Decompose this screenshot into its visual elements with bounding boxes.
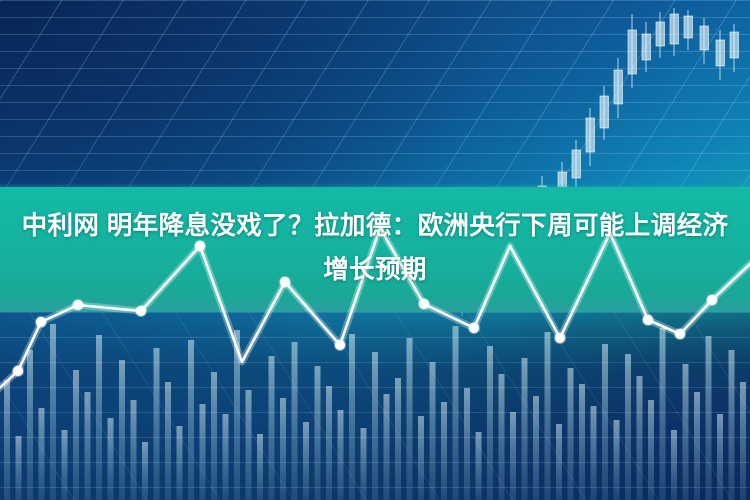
news-banner: 中利网 明年降息没戏了？拉加德：欧洲央行下周可能上调经济 增长预期 (0, 0, 750, 500)
page-title: 中利网 明年降息没戏了？拉加德：欧洲央行下周可能上调经济 增长预期 (0, 204, 750, 292)
headline-line-1: 中利网 明年降息没戏了？拉加德：欧洲央行下周可能上调经济 (8, 204, 742, 248)
headline-line-2: 增长预期 (8, 248, 742, 292)
